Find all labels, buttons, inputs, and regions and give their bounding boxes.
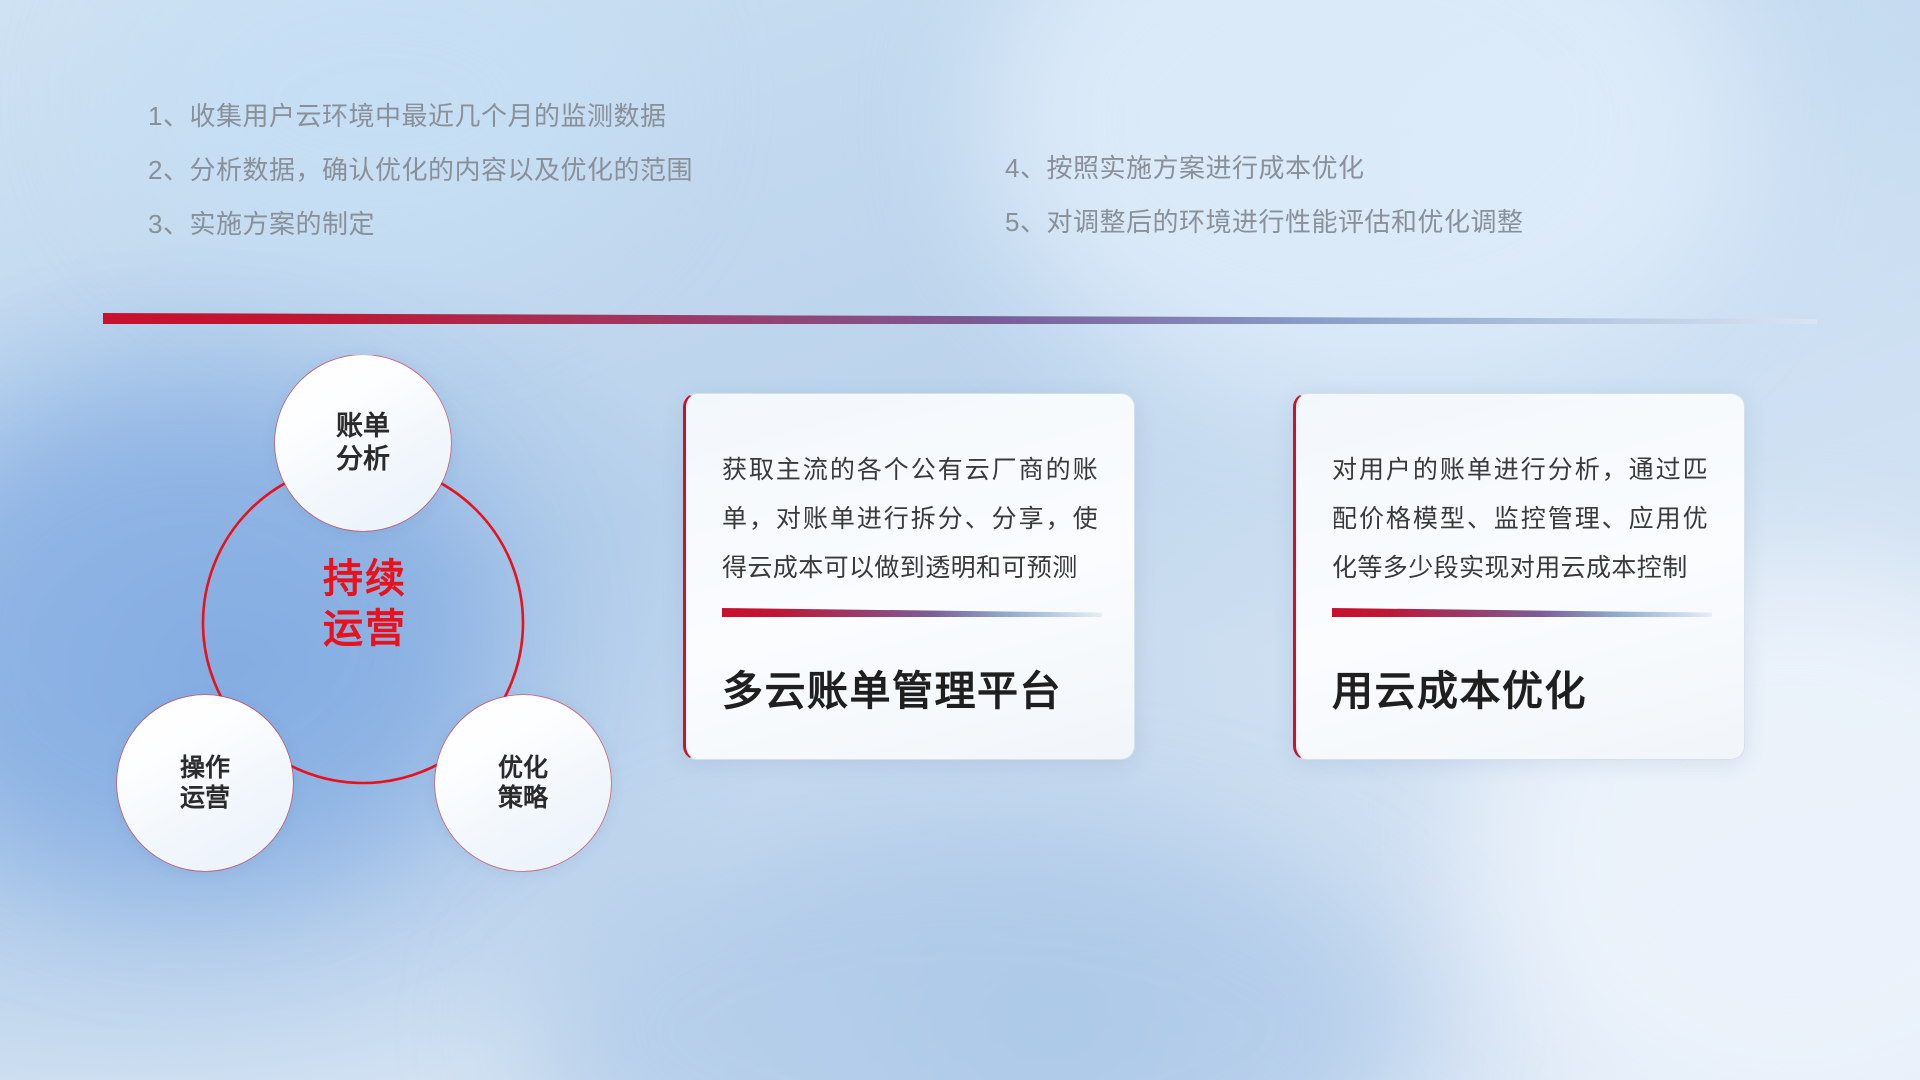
venn-bubble-billing-analysis[interactable]: 账单 分析 — [275, 355, 451, 531]
venn-bubble-optimization-strategy-line1: 优化 — [498, 753, 548, 784]
feature-card-multicloud-billing-body: 获取主流的各个公有云厂商的账单，对账单进行拆分、分享，使得云成本可以做到透明和可… — [722, 446, 1098, 592]
bullet-item-5: 5、对调整后的环境进行性能评估和优化调整 — [1005, 209, 1523, 235]
feature-card-cost-optimization-title: 用云成本优化 — [1332, 657, 1587, 717]
bullet-item-2: 2、分析数据，确认优化的内容以及优化的范围 — [148, 157, 693, 183]
bullet-list-left: 1、收集用户云环境中最近几个月的监测数据 2、分析数据，确认优化的内容以及优化的… — [148, 103, 693, 237]
venn-diagram: 账单 分析 操作 运营 优化 策略 持续 运营 — [95, 355, 635, 935]
bullet-item-1: 1、收集用户云环境中最近几个月的监测数据 — [148, 103, 693, 129]
section-divider-rule — [103, 313, 1817, 324]
bullet-item-4: 4、按照实施方案进行成本优化 — [1005, 155, 1523, 181]
feature-card-multicloud-billing[interactable]: 获取主流的各个公有云厂商的账单，对账单进行拆分、分享，使得云成本可以做到透明和可… — [683, 393, 1135, 760]
feature-card-multicloud-billing-title: 多云账单管理平台 — [722, 657, 1062, 717]
bullet-item-3: 3、实施方案的制定 — [148, 211, 693, 237]
feature-card-cost-optimization[interactable]: 对用户的账单进行分析，通过匹配价格模型、监控管理、应用优化等多少段实现对用云成本… — [1293, 393, 1745, 760]
venn-bubble-optimization-strategy-line2: 策略 — [498, 783, 548, 814]
venn-bubble-operations-line2: 运营 — [180, 783, 230, 814]
venn-center-label-line2: 运营 — [95, 605, 635, 655]
slide-canvas: 1、收集用户云环境中最近几个月的监测数据 2、分析数据，确认优化的内容以及优化的… — [0, 0, 1920, 1080]
venn-bubble-operations-line1: 操作 — [180, 753, 230, 784]
venn-bubble-billing-analysis-line1: 账单 — [336, 410, 390, 443]
venn-center-label: 持续 运营 — [95, 555, 635, 654]
feature-card-cost-optimization-body: 对用户的账单进行分析，通过匹配价格模型、监控管理、应用优化等多少段实现对用云成本… — [1332, 446, 1708, 592]
bullet-list-right: 4、按照实施方案进行成本优化 5、对调整后的环境进行性能评估和优化调整 — [1005, 155, 1523, 235]
venn-bubble-operations[interactable]: 操作 运营 — [117, 695, 293, 871]
venn-bubble-billing-analysis-line2: 分析 — [336, 443, 390, 476]
feature-card-multicloud-billing-divider — [722, 608, 1102, 617]
venn-center-label-line1: 持续 — [95, 555, 635, 605]
feature-card-cost-optimization-divider — [1332, 608, 1712, 617]
background-blob-bottom — [520, 820, 1420, 1080]
venn-bubble-optimization-strategy[interactable]: 优化 策略 — [435, 695, 611, 871]
